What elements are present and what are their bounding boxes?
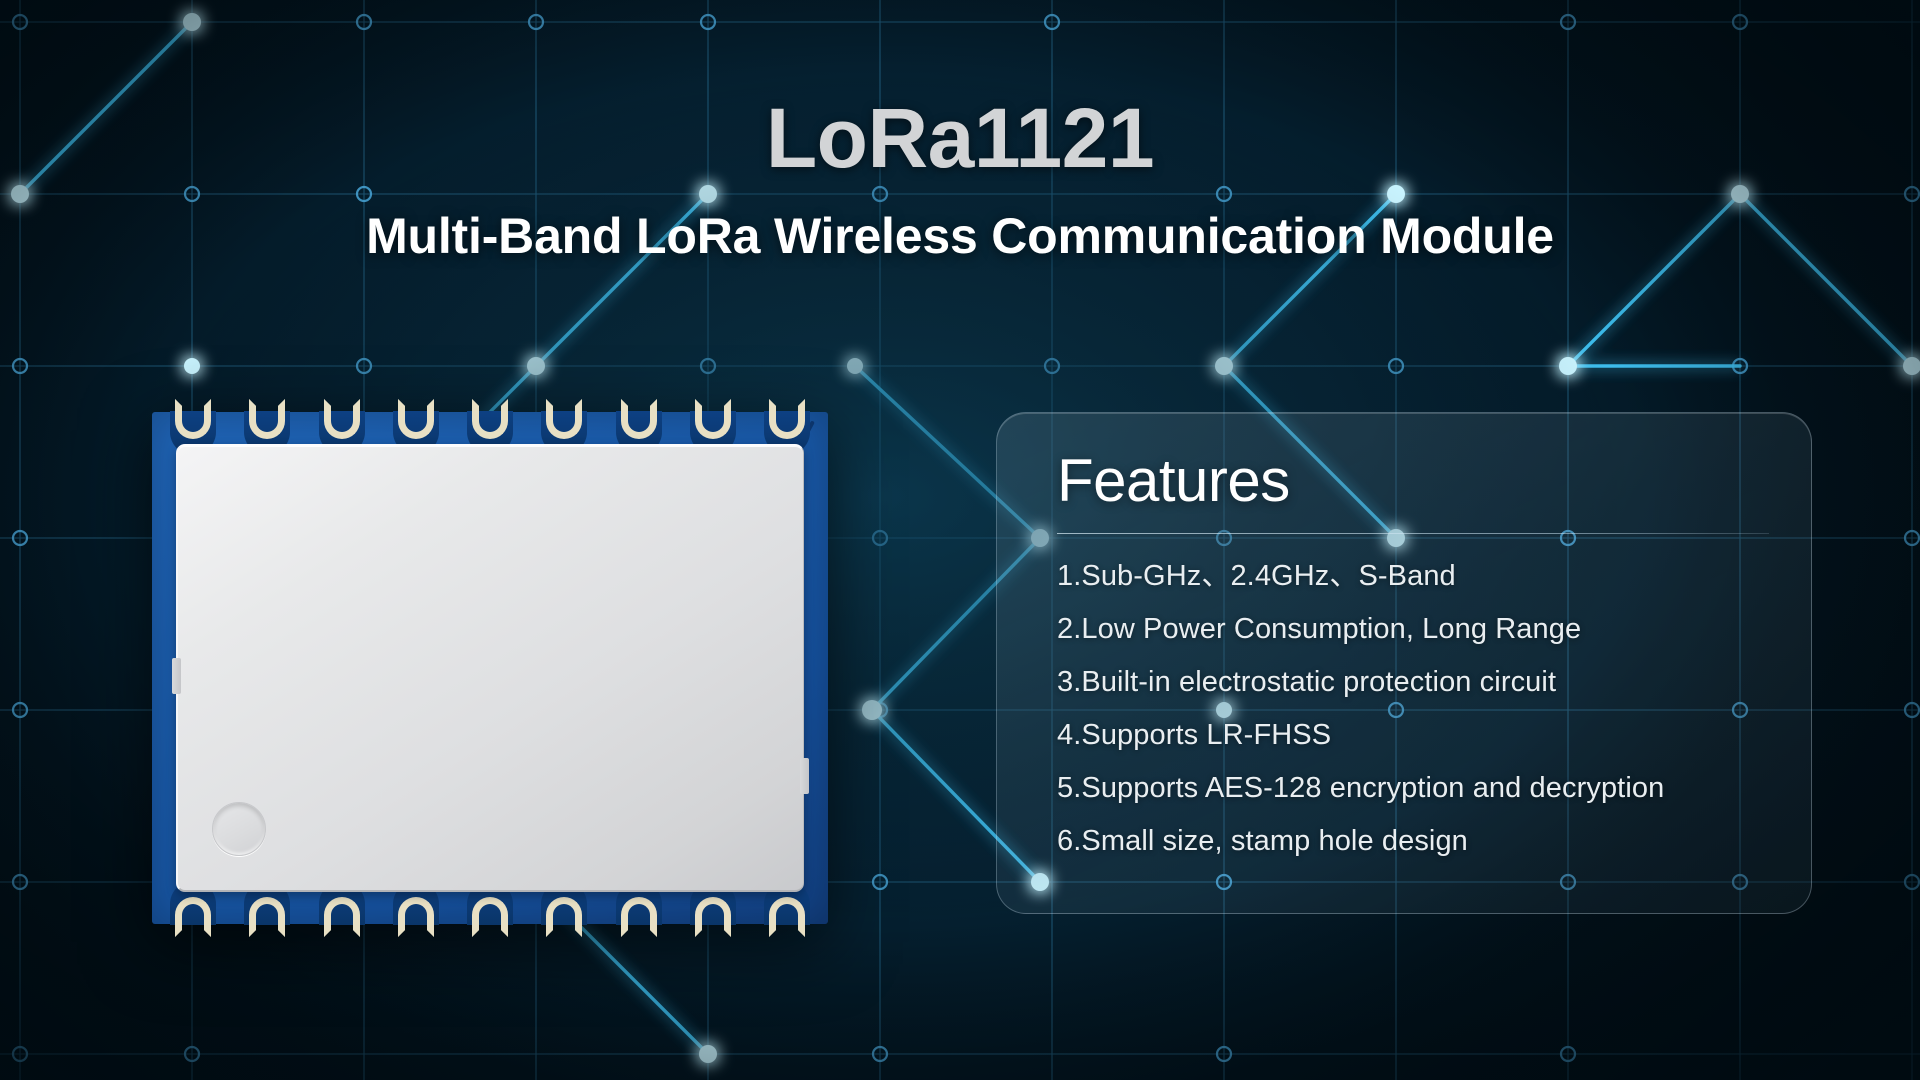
castellation-pad	[541, 411, 587, 445]
castellation-pad	[170, 891, 216, 925]
castellation-row-top	[170, 411, 810, 445]
castellation-pad	[616, 411, 662, 445]
slide-canvas: LoRa1121 Multi-Band LoRa Wireless Commun…	[0, 0, 1920, 1080]
castellation-pad	[690, 411, 736, 445]
shield-tab	[800, 758, 809, 794]
feature-item: 6.Small size, stamp hole design	[1057, 827, 1811, 856]
castellation-pad	[764, 411, 810, 445]
pin-one-marker-dimple	[212, 802, 266, 856]
title-block: LoRa1121 Multi-Band LoRa Wireless Commun…	[0, 96, 1920, 263]
castellation-pad	[244, 891, 290, 925]
castellation-pad	[616, 891, 662, 925]
shield-tab	[172, 658, 181, 694]
page-subtitle: Multi-Band LoRa Wireless Communication M…	[0, 210, 1920, 263]
castellation-pad	[244, 411, 290, 445]
castellation-pad	[170, 411, 216, 445]
feature-item: 4.Supports LR-FHSS	[1057, 721, 1811, 750]
features-list: 1.Sub-GHz、2.4GHz、S-Band 2.Low Power Cons…	[1057, 562, 1811, 856]
castellation-pad	[319, 411, 365, 445]
rf-shield-can	[176, 444, 804, 892]
castellation-pad	[467, 411, 513, 445]
castellation-pad	[467, 891, 513, 925]
features-panel: Features 1.Sub-GHz、2.4GHz、S-Band 2.Low P…	[996, 412, 1812, 914]
castellation-row-bottom	[170, 891, 810, 925]
features-heading: Features	[1057, 451, 1811, 511]
castellation-pad	[319, 891, 365, 925]
features-divider	[1057, 533, 1769, 534]
product-module-image	[152, 412, 828, 924]
castellation-pad	[690, 891, 736, 925]
castellation-pad	[541, 891, 587, 925]
castellation-pad	[393, 411, 439, 445]
page-title: LoRa1121	[0, 96, 1920, 180]
feature-item: 3.Built-in electrostatic protection circ…	[1057, 668, 1811, 697]
pcb-board	[152, 412, 828, 924]
castellation-pad	[393, 891, 439, 925]
feature-item: 5.Supports AES-128 encryption and decryp…	[1057, 774, 1811, 803]
castellation-pad	[764, 891, 810, 925]
feature-item: 1.Sub-GHz、2.4GHz、S-Band	[1057, 562, 1811, 591]
feature-item: 2.Low Power Consumption, Long Range	[1057, 615, 1811, 644]
